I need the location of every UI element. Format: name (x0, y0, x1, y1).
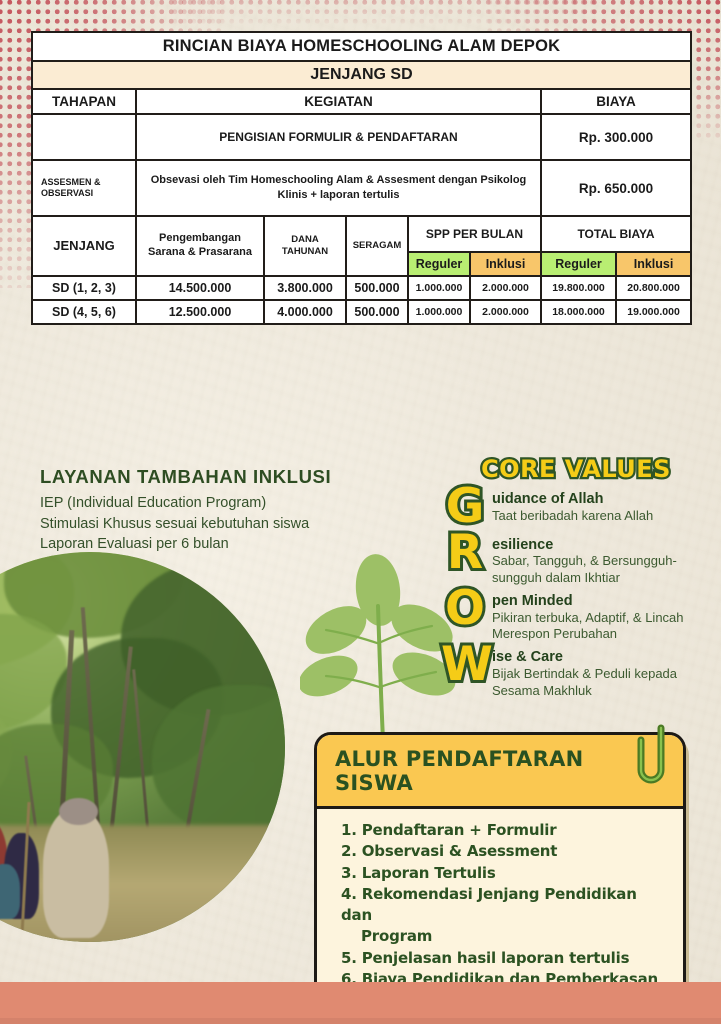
stage-cost: Rp. 650.000 (541, 160, 691, 216)
layanan-item: IEP (Individual Education Program) (40, 493, 440, 514)
grow-letter-r: R (441, 531, 489, 576)
col-header-biaya: BIAYA (541, 89, 691, 114)
core-value-description: Pikiran terbuka, Adaptif, & Lincah Meres… (492, 610, 711, 643)
col-subheader-total-inklusi: Inklusi (616, 252, 691, 276)
core-value-description: Sabar, Tangguh, & Bersungguh-sungguh dal… (492, 553, 711, 586)
alur-title: ALUR PENDAFTARAN SISWA (335, 747, 669, 795)
paperclip-icon (634, 722, 674, 797)
fee-seragam: 500.000 (346, 300, 408, 324)
table-row-header: TAHAPAN KEGIATAN BIAYA (32, 89, 691, 114)
fee-jenjang: SD (1, 2, 3) (32, 276, 136, 300)
table-subtitle: JENJANG SD (32, 61, 691, 89)
core-value-heading: esilience (492, 537, 711, 554)
core-value-heading: ise & Care (492, 649, 711, 666)
table-row-subtitle: JENJANG SD (32, 61, 691, 89)
hiker-hat (59, 798, 98, 825)
col-header-jenjang: JENJANG (32, 216, 136, 276)
table-row: SD (1, 2, 3) 14.500.000 3.800.000 500.00… (32, 276, 691, 300)
fee-spp-inklusi: 2.000.000 (470, 276, 541, 300)
alur-steps-list: 1. Pendaftaran + Formulir 2. Observasi &… (317, 809, 683, 1004)
core-value-heading: uidance of Allah (492, 491, 653, 508)
alur-pendaftaran-card: ALUR PENDAFTARAN SISWA 1. Pendaftaran + … (314, 732, 686, 1007)
core-value-item-wise-care: W ise & Care Bijak Bertindak & Peduli ke… (441, 643, 711, 698)
stage-activity: PENGISIAN FORMULIR & PENDAFTARAN (136, 114, 541, 160)
layanan-item: Laporan Evaluasi per 6 bulan (40, 534, 440, 555)
table-title: RINCIAN BIAYA HOMESCHOOLING ALAM DEPOK (32, 32, 691, 61)
fee-spp-reguler: 1.000.000 (408, 300, 470, 324)
fee-jenjang: SD (4, 5, 6) (32, 300, 136, 324)
table-row: PENGISIAN FORMULIR & PENDAFTARAN Rp. 300… (32, 114, 691, 160)
col-subheader-spp-inklusi: Inklusi (470, 252, 541, 276)
core-value-item-resilience: R esilience Sabar, Tangguh, & Bersungguh… (441, 531, 711, 586)
col-header-total-biaya: TOTAL BIAYA (541, 216, 691, 252)
hiker-figure (0, 864, 20, 919)
fee-total-reguler: 18.000.000 (541, 300, 616, 324)
fee-table: RINCIAN BIAYA HOMESCHOOLING ALAM DEPOK J… (31, 31, 692, 325)
col-header-seragam: SERAGAM (346, 216, 408, 276)
hiker-figure-main (43, 809, 109, 938)
core-values-section: CORE VALUES G uidance of Allah Taat beri… (441, 455, 711, 699)
col-header-kegiatan: KEGIATAN (136, 89, 541, 114)
alur-step: 2. Observasi & Asessment (341, 841, 667, 862)
fee-sarana: 12.500.000 (136, 300, 264, 324)
core-value-item-open-minded: O pen Minded Pikiran terbuka, Adaptif, &… (441, 587, 711, 642)
fee-spp-reguler: 1.000.000 (408, 276, 470, 300)
stage-label: ASSESMEN & OBSERVASI (32, 160, 136, 216)
core-value-description: Taat beribadah karena Allah (492, 508, 653, 524)
fee-seragam: 500.000 (346, 276, 408, 300)
col-header-spp-per-bulan: SPP PER BULAN (408, 216, 541, 252)
core-value-item-guidance: G uidance of Allah Taat beribadah karena… (441, 485, 711, 530)
layanan-tambahan-section: LAYANAN TAMBAHAN INKLUSI IEP (Individual… (40, 466, 440, 555)
alur-header: ALUR PENDAFTARAN SISWA (317, 735, 683, 809)
layanan-item: Stimulasi Khusus sesuai kebutuhan siswa (40, 514, 440, 535)
fee-total-reguler: 19.800.000 (541, 276, 616, 300)
col-subheader-spp-reguler: Reguler (408, 252, 470, 276)
fee-spp-inklusi: 2.000.000 (470, 300, 541, 324)
fee-dana-tahunan: 4.000.000 (264, 300, 346, 324)
table-row: SD (4, 5, 6) 12.500.000 4.000.000 500.00… (32, 300, 691, 324)
grow-letter-o: O (441, 587, 489, 632)
fee-total-inklusi: 19.000.000 (616, 300, 691, 324)
alur-step: 1. Pendaftaran + Formulir (341, 820, 667, 841)
col-header-sarana: Pengembangan Sarana & Prasarana (136, 216, 264, 276)
alur-step-continuation: Program (341, 926, 667, 947)
grow-letter-w: W (441, 643, 489, 688)
core-value-description: Bijak Bertindak & Peduli kepada Sesama M… (492, 666, 711, 699)
col-header-dana-tahunan: DANA TAHUNAN (264, 216, 346, 276)
table-row-title: RINCIAN BIAYA HOMESCHOOLING ALAM DEPOK (32, 32, 691, 61)
stage-activity: Obsevasi oleh Tim Homeschooling Alam & A… (136, 160, 541, 216)
layanan-title: LAYANAN TAMBAHAN INKLUSI (40, 466, 440, 488)
grow-letter-g: G (441, 485, 489, 530)
core-value-heading: pen Minded (492, 593, 711, 610)
table-row-fee-header: JENJANG Pengembangan Sarana & Prasarana … (32, 216, 691, 252)
alur-step: 3. Laporan Tertulis (341, 863, 667, 884)
col-subheader-total-reguler: Reguler (541, 252, 616, 276)
alur-step: 5. Penjelasan hasil laporan tertulis (341, 948, 667, 969)
stage-label (32, 114, 136, 160)
fee-total-inklusi: 20.800.000 (616, 276, 691, 300)
bottom-accent-bar (0, 982, 721, 1024)
bottom-bar-shadow (0, 1018, 721, 1024)
fee-dana-tahunan: 3.800.000 (264, 276, 346, 300)
fee-sarana: 14.500.000 (136, 276, 264, 300)
stage-cost: Rp. 300.000 (541, 114, 691, 160)
table-row: ASSESMEN & OBSERVASI Obsevasi oleh Tim H… (32, 160, 691, 216)
forest-hiking-photo (0, 552, 285, 942)
col-header-tahapan: TAHAPAN (32, 89, 136, 114)
alur-step: 4. Rekomendasi Jenjang Pendidikan dan (341, 884, 667, 927)
